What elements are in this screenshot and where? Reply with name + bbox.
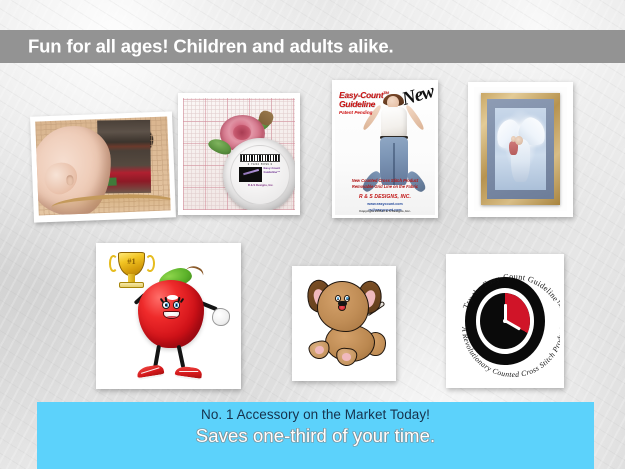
- trophy-number-label: #1: [119, 256, 143, 266]
- clock-bottom-text: A Revolutionary Counted Cross Stitch Pro…: [460, 326, 560, 379]
- spool-brand-text: Easy-Count Guideline™: [264, 167, 287, 175]
- easy-count-poster-photo[interactable]: Easy-CountTM Guideline Patent Pending Ne…: [332, 80, 438, 218]
- picture-frame: [481, 93, 559, 205]
- rose-cross-stitch-photo[interactable]: 0 71234 56789 0 Easy-Count Guideline™ R …: [178, 93, 300, 215]
- hand-stitching-photo[interactable]: [30, 111, 176, 222]
- poster-company-name: R & S DESIGNS, INC.: [340, 194, 430, 200]
- hand-stitching-image: [35, 117, 171, 216]
- poster-blurb: New Counted Cross Stitch Product Removab…: [340, 178, 430, 190]
- clock-logo-graphic: Try the Easy-Count Guideline™ A Revoluti…: [458, 268, 553, 374]
- poster-blurb-line2: Removable Grid Line on the Fabric: [340, 184, 430, 190]
- leg-shape: [177, 345, 185, 369]
- eyelash-icon: [164, 297, 167, 302]
- clock-bottom-textpath: A Revolutionary Counted Cross Stitch Pro…: [460, 326, 560, 379]
- poster-links: www.easycount.com rs@easycount.com Copyr…: [340, 202, 430, 213]
- slide-canvas: Fun for all ages! Children and adults al…: [0, 0, 625, 469]
- poster-logo-line2: Guideline: [339, 100, 399, 109]
- spool-detail-text: R & S Designs, Inc.: [239, 184, 282, 188]
- poster-copyright: Copyright 2006 R & S Designs, Inc.: [345, 209, 426, 214]
- thread-swatch-icon: [239, 167, 261, 182]
- clock-top-textpath: Try the Easy-Count Guideline™: [461, 272, 560, 310]
- caption-line-1: No. 1 Accessory on the Market Today!: [37, 407, 594, 422]
- barcode-icon: [240, 154, 280, 162]
- apple-mascot-photo[interactable]: #1: [96, 243, 241, 389]
- clock-logo-image: Try the Easy-Count Guideline™ A Revoluti…: [450, 258, 560, 384]
- puppy-clipart-photo[interactable]: [292, 266, 396, 381]
- title-banner: Fun for all ages! Children and adults al…: [0, 30, 625, 63]
- new-badge: New: [400, 83, 435, 111]
- framed-angel-image: [474, 87, 567, 211]
- paw-icon: [335, 347, 358, 367]
- trophy-cup: #1: [118, 252, 144, 276]
- trademark-icon: TM: [383, 90, 388, 95]
- caption-line-2: Saves one-third of your time.: [37, 425, 594, 447]
- sneaker-icon: [136, 364, 165, 381]
- angel-artwork: [495, 108, 545, 190]
- puppy-image: [296, 270, 392, 377]
- tongue-icon: [338, 305, 346, 311]
- apple-body: [138, 280, 204, 348]
- trophy-handle: [109, 255, 119, 272]
- sneaker-icon: [175, 365, 204, 381]
- glove-hand-icon: [212, 308, 230, 326]
- trophy-handle: [145, 255, 155, 272]
- eyelash-icon: [180, 298, 184, 303]
- apple-mascot-image: #1: [100, 247, 237, 385]
- frame-mat: [487, 99, 553, 199]
- smiling-mouth-icon: [163, 311, 180, 318]
- caption-box: No. 1 Accessory on the Market Today! Sav…: [37, 402, 594, 469]
- clock-top-text: Try the Easy-Count Guideline™: [461, 272, 560, 310]
- rose-cross-stitch-image: 0 71234 56789 0 Easy-Count Guideline™ R …: [183, 98, 295, 210]
- easy-count-clock-logo-photo[interactable]: Try the Easy-Count Guideline™ A Revoluti…: [446, 254, 564, 388]
- finger-shape: [40, 158, 81, 198]
- angel-head-shape: [515, 136, 523, 145]
- framed-angel-cross-stitch-photo[interactable]: [468, 82, 573, 217]
- guideline-spool: 0 71234 56789 0 Easy-Count Guideline™ R …: [223, 138, 295, 210]
- poster-image: Easy-CountTM Guideline Patent Pending Ne…: [335, 83, 435, 215]
- spool-label: 0 71234 56789 0 Easy-Count Guideline™ R …: [230, 145, 291, 206]
- poster-logo: Easy-CountTM Guideline Patent Pending: [339, 91, 399, 115]
- thumbnail-shape: [66, 175, 74, 185]
- poster-patent-text: Patent Pending: [339, 110, 399, 115]
- apple-top-dip: [167, 295, 178, 300]
- page-title: Fun for all ages! Children and adults al…: [28, 35, 394, 57]
- puppy-head: [317, 281, 369, 332]
- trophy-base: [119, 282, 144, 288]
